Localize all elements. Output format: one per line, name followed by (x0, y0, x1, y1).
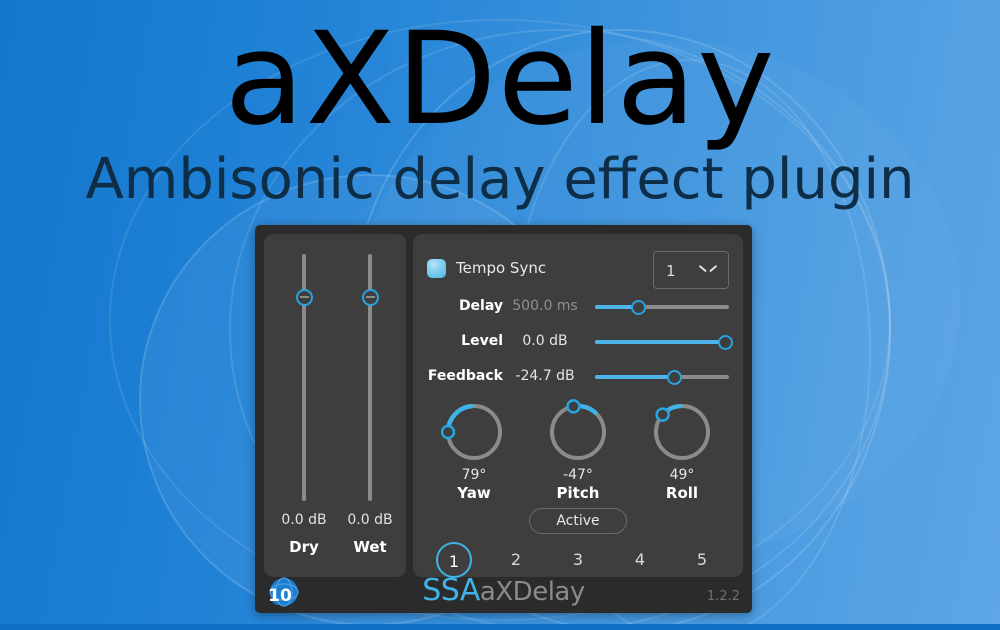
dry-wet-fader-panel: 0.0 dB Dry 0.0 dB Wet (264, 234, 406, 577)
dry-label: Dry (269, 538, 339, 556)
feedback-label: Feedback (417, 368, 503, 384)
orientation-knob-row: 79° Yaw -47° Pitch (413, 399, 743, 499)
dry-value: 0.0 dB (269, 512, 339, 528)
wet-fader-thumb[interactable] (362, 289, 379, 306)
pitch-label: Pitch (528, 484, 628, 502)
iem-10-logo-icon: 10 (264, 575, 300, 611)
preset-dropdown-value: 1 (666, 262, 676, 280)
level-slider-thumb[interactable] (718, 335, 733, 350)
level-value: 0.0 dB (505, 333, 585, 349)
feedback-slider-thumb[interactable] (667, 370, 682, 385)
delay-value: 500.0 ms (505, 298, 585, 314)
yaw-label: Yaw (424, 484, 524, 502)
tempo-sync-checkbox[interactable] (427, 259, 446, 278)
preset-dropdown[interactable]: 1 (653, 251, 729, 289)
pitch-knob[interactable]: -47° Pitch (528, 399, 628, 502)
chevron-down-icon (701, 265, 715, 273)
active-button[interactable]: Active (529, 508, 627, 534)
promo-banner: aXDelay Ambisonic delay effect plugin 0.… (0, 0, 1000, 630)
wet-fader[interactable] (348, 254, 392, 501)
dry-fader-thumb[interactable] (296, 289, 313, 306)
level-slider-fill (595, 340, 725, 344)
yaw-value: 79° (424, 467, 524, 483)
wet-label: Wet (335, 538, 405, 556)
dry-fader[interactable] (282, 254, 326, 501)
feedback-value: -24.7 dB (505, 368, 585, 384)
plugin-footer: 10 SSAaXDelay 1.2.2 (255, 577, 752, 613)
delay-slider[interactable] (595, 303, 729, 311)
roll-knob-dial[interactable] (649, 399, 715, 465)
brand-plugin-name: aXDelay (480, 577, 585, 607)
roll-knob[interactable]: 49° Roll (632, 399, 732, 502)
version-label: 1.2.2 (707, 589, 740, 604)
roll-value: 49° (632, 467, 732, 483)
param-row-feedback: Feedback -24.7 dB (413, 364, 743, 390)
delay-slider-thumb[interactable] (631, 300, 646, 315)
pitch-value: -47° (528, 467, 628, 483)
feedback-slider-fill (595, 375, 674, 379)
param-row-level: Level 0.0 dB (413, 329, 743, 355)
yaw-knob[interactable]: 79° Yaw (424, 399, 524, 502)
pitch-knob-dial[interactable] (545, 399, 611, 465)
yaw-knob-dial[interactable] (441, 399, 507, 465)
wet-value: 0.0 dB (335, 512, 405, 528)
tempo-sync-row: Tempo Sync 1 (427, 251, 731, 289)
feedback-slider[interactable] (595, 373, 729, 381)
bottom-accent-strip (0, 624, 1000, 630)
plugin-window: 0.0 dB Dry 0.0 dB Wet Tempo Sync 1 Delay… (255, 225, 752, 613)
level-slider[interactable] (595, 338, 729, 346)
preset-item-4[interactable]: 4 (622, 542, 658, 578)
brand-ssa: SSA (422, 573, 480, 608)
tempo-sync-label: Tempo Sync (456, 259, 546, 277)
main-control-panel: Tempo Sync 1 Delay 500.0 ms Level (413, 234, 743, 577)
param-row-delay: Delay 500.0 ms (413, 294, 743, 320)
brand-wordmark: SSAaXDelay (422, 573, 584, 608)
level-label: Level (417, 333, 503, 349)
delay-label: Delay (417, 298, 503, 314)
preset-item-5[interactable]: 5 (684, 542, 720, 578)
roll-label: Roll (632, 484, 732, 502)
page-title: aXDelay (0, 16, 1000, 144)
page-subtitle: Ambisonic delay effect plugin (0, 152, 1000, 208)
iem-logo-text: 10 (268, 586, 292, 606)
